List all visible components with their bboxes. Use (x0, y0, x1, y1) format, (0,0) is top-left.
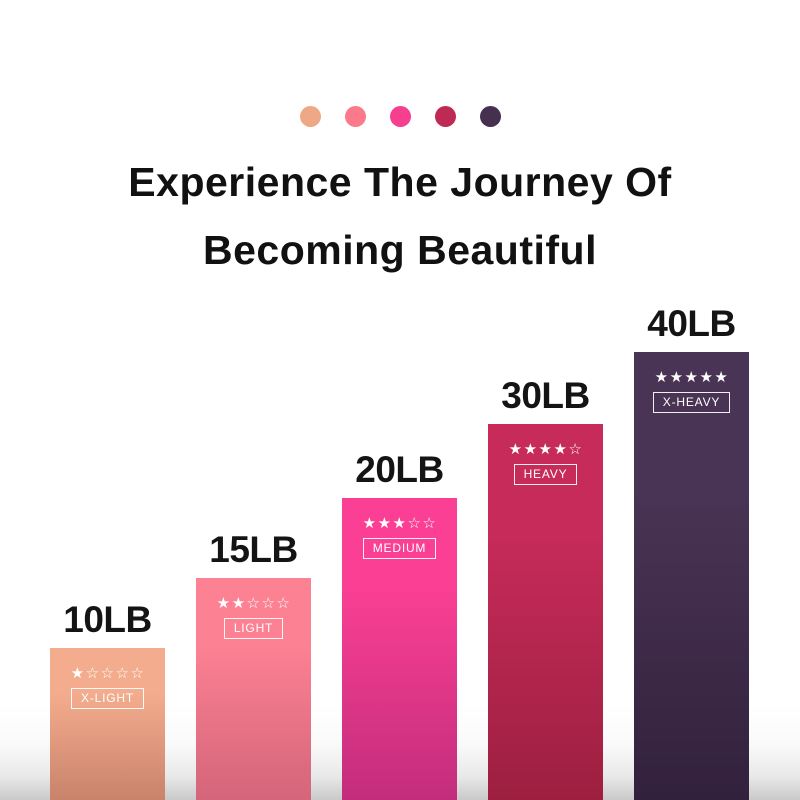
bar-group-15lb: 15LB★★☆☆☆LIGHT (196, 522, 311, 800)
star-filled-icon: ★ (670, 370, 684, 385)
star-empty-icon: ☆ (568, 442, 582, 457)
bar-badge: ★★★★☆HEAVY (488, 442, 603, 485)
bar-badge: ★★★★★X-HEAVY (634, 370, 749, 413)
bar-column: ★★★★★X-HEAVY (634, 352, 749, 800)
star-filled-icon: ★ (71, 666, 85, 681)
bar-weight-label: 15LB (196, 531, 311, 568)
star-empty-icon: ☆ (101, 666, 115, 681)
tier-label: X-LIGHT (71, 688, 144, 709)
star-filled-icon: ★ (217, 596, 231, 611)
bar-badge: ★★☆☆☆LIGHT (196, 596, 311, 639)
star-filled-icon: ★ (553, 442, 567, 457)
star-filled-icon: ★ (378, 516, 392, 531)
tier-label: X-HEAVY (653, 392, 730, 413)
bar-group-40lb: 40LB★★★★★X-HEAVY (634, 296, 749, 800)
star-filled-icon: ★ (393, 516, 407, 531)
star-empty-icon: ☆ (276, 596, 290, 611)
rating-stars: ★★★★☆ (509, 442, 583, 457)
bar-column: ★★☆☆☆LIGHT (196, 578, 311, 800)
bar-badge: ★★★☆☆MEDIUM (342, 516, 457, 559)
star-filled-icon: ★ (655, 370, 669, 385)
star-filled-icon: ★ (685, 370, 699, 385)
resistance-band-bar-chart: 10LB★☆☆☆☆X-LIGHT15LB★★☆☆☆LIGHT20LB★★★☆☆M… (0, 0, 800, 800)
tier-label: MEDIUM (363, 538, 436, 559)
bar-column: ★☆☆☆☆X-LIGHT (50, 648, 165, 800)
star-filled-icon: ★ (363, 516, 377, 531)
tier-label: HEAVY (514, 464, 578, 485)
star-filled-icon: ★ (232, 596, 246, 611)
star-filled-icon: ★ (524, 442, 538, 457)
star-empty-icon: ☆ (422, 516, 436, 531)
bar-column: ★★★★☆HEAVY (488, 424, 603, 800)
star-filled-icon: ★ (539, 442, 553, 457)
tier-label: LIGHT (224, 618, 283, 639)
bar-weight-label: 20LB (342, 451, 457, 488)
bar-weight-label: 10LB (50, 601, 165, 638)
star-empty-icon: ☆ (86, 666, 100, 681)
rating-stars: ★★★★★ (655, 370, 729, 385)
rating-stars: ★★★☆☆ (363, 516, 437, 531)
bar-group-20lb: 20LB★★★☆☆MEDIUM (342, 442, 457, 800)
star-filled-icon: ★ (699, 370, 713, 385)
rating-stars: ★★☆☆☆ (217, 596, 291, 611)
star-empty-icon: ☆ (247, 596, 261, 611)
star-empty-icon: ☆ (261, 596, 275, 611)
star-empty-icon: ☆ (407, 516, 421, 531)
star-empty-icon: ☆ (115, 666, 129, 681)
star-filled-icon: ★ (509, 442, 523, 457)
bar-column: ★★★☆☆MEDIUM (342, 498, 457, 800)
bar-badge: ★☆☆☆☆X-LIGHT (50, 666, 165, 709)
bar-group-30lb: 30LB★★★★☆HEAVY (488, 368, 603, 800)
bar-weight-label: 40LB (634, 305, 749, 342)
rating-stars: ★☆☆☆☆ (71, 666, 145, 681)
promo-graphic: Experience The Journey Of Becoming Beaut… (0, 0, 800, 800)
star-filled-icon: ★ (714, 370, 728, 385)
bar-group-10lb: 10LB★☆☆☆☆X-LIGHT (50, 592, 165, 800)
bar-weight-label: 30LB (488, 377, 603, 414)
star-empty-icon: ☆ (130, 666, 144, 681)
